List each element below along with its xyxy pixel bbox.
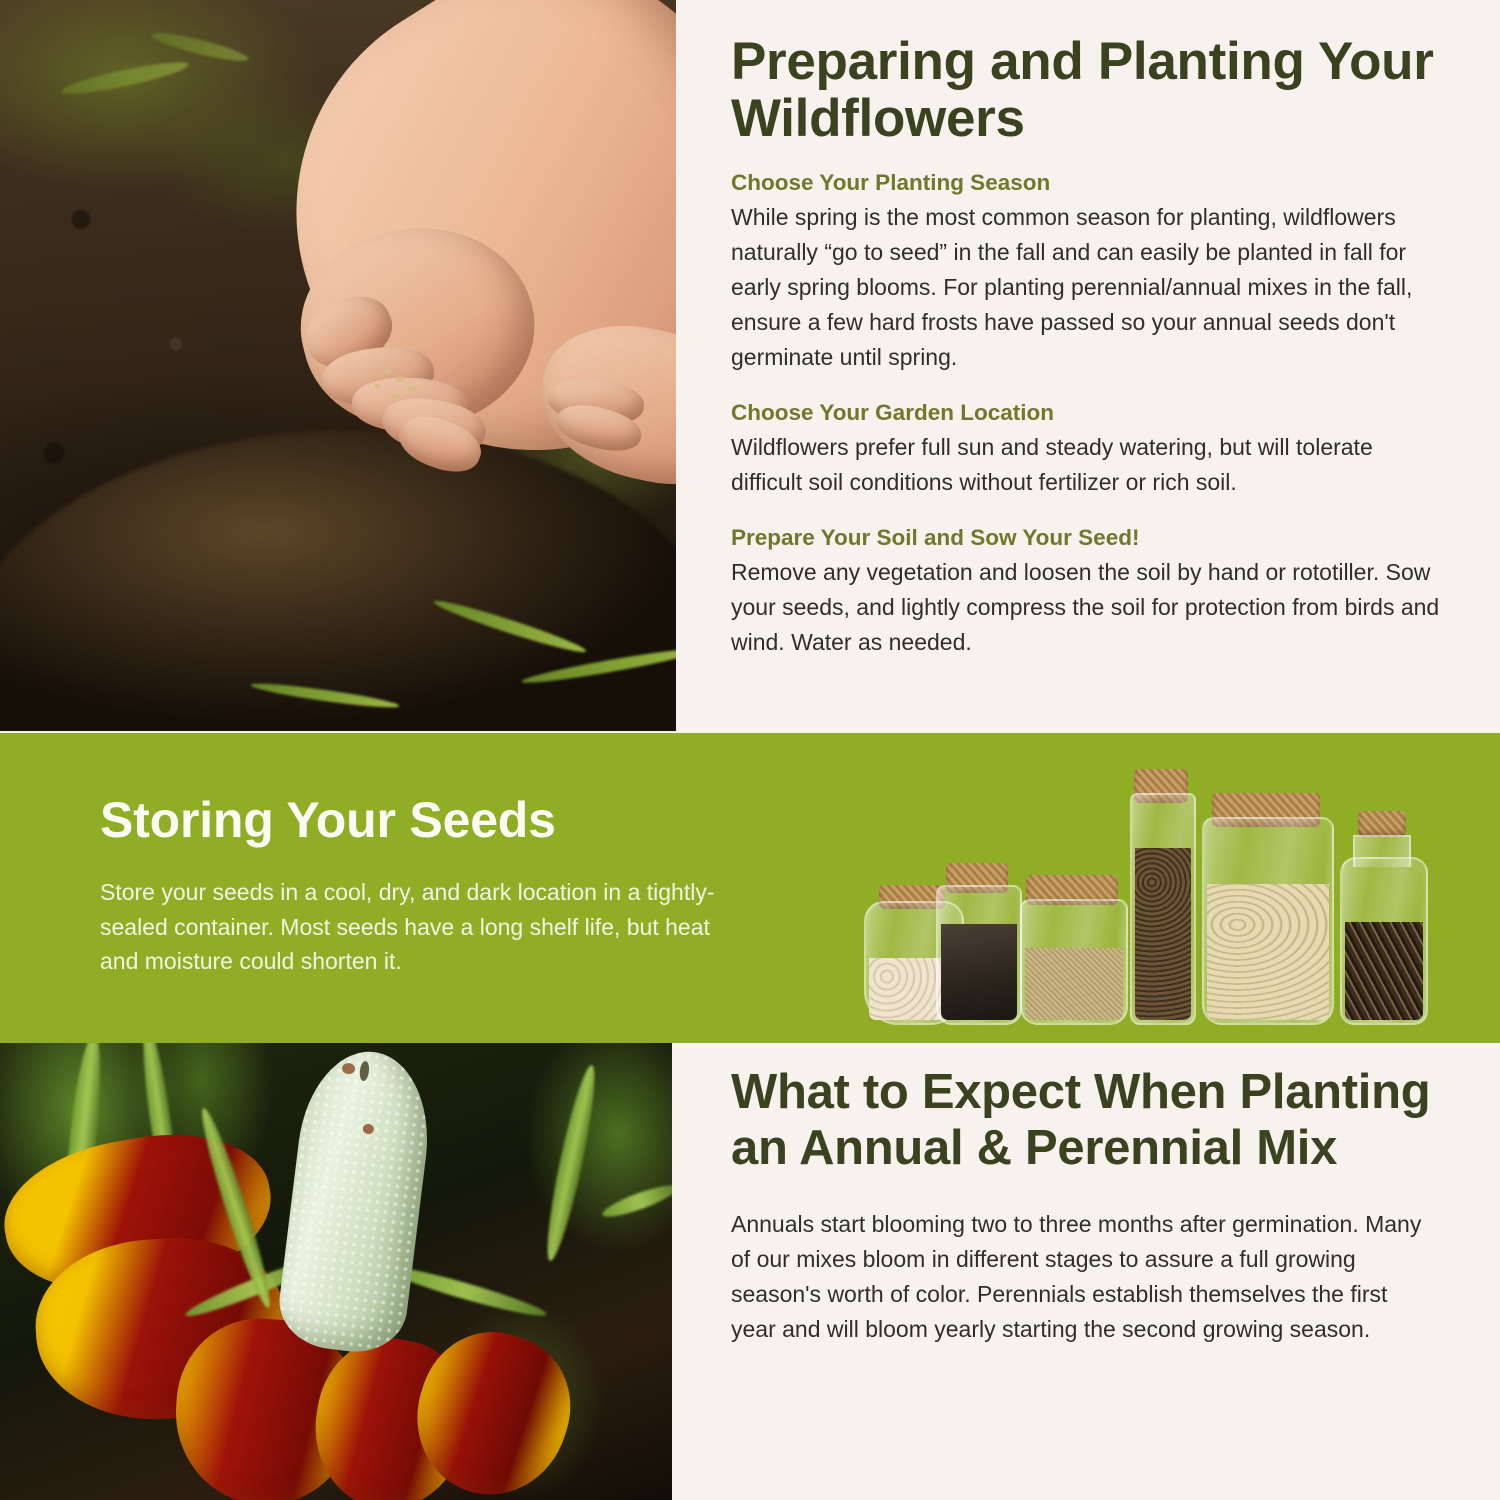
soil-planting-photo — [0, 0, 676, 731]
subheading-garden-location: Choose Your Garden Location — [731, 399, 1443, 426]
jar-contents — [1135, 848, 1191, 1020]
jar-tan-seed — [1020, 875, 1124, 1025]
seed-jars-photo — [858, 751, 1458, 1033]
what-to-expect-section: What to Expect When Planting an Annual &… — [0, 1043, 1500, 1500]
seed — [374, 384, 381, 389]
subheading-planting-season: Choose Your Planting Season — [731, 169, 1443, 196]
jar-glass — [936, 885, 1022, 1025]
expect-paragraph: Annuals start blooming two to three mont… — [731, 1207, 1431, 1347]
jar-tall-tube — [1130, 769, 1192, 1025]
paragraph-planting-season: While spring is the most common season f… — [731, 200, 1443, 375]
expect-text-column: What to Expect When Planting an Annual &… — [672, 1043, 1500, 1500]
expect-title: What to Expect When Planting an Annual &… — [731, 1065, 1431, 1177]
jar-contents — [1207, 884, 1329, 1020]
seed — [392, 394, 400, 399]
jar-dark-seed — [936, 863, 1018, 1025]
paragraph-prepare-soil: Remove any vegetation and loosen the soi… — [731, 555, 1443, 660]
coneflower-photo — [0, 1043, 672, 1500]
jar-sunflower-seed — [1340, 811, 1424, 1025]
storing-title: Storing Your Seeds — [100, 795, 556, 845]
jar-glass — [1202, 817, 1334, 1025]
jar-contents — [1025, 948, 1123, 1020]
jar-glass — [1020, 899, 1128, 1025]
seed — [382, 368, 391, 374]
paragraph-garden-location: Wildflowers prefer full sun and steady w… — [731, 430, 1443, 500]
storing-paragraph: Store your seeds in a cool, dry, and dar… — [100, 875, 740, 979]
cork-lid — [1358, 811, 1406, 837]
intro-text-column: Preparing and Planting Your Wildflowers … — [676, 0, 1500, 733]
intro-title: Preparing and Planting Your Wildflowers — [731, 33, 1443, 147]
jar-contents — [1345, 922, 1423, 1020]
jar-glass — [1340, 857, 1428, 1025]
jar-glass — [1130, 793, 1196, 1025]
storing-seeds-section: Storing Your Seeds Store your seeds in a… — [0, 733, 1500, 1043]
jar-contents — [941, 924, 1017, 1020]
seed — [408, 386, 418, 392]
seed — [396, 376, 404, 382]
jar-pumpkin-seeds — [1202, 793, 1330, 1025]
infographic-page: Preparing and Planting Your Wildflowers … — [0, 0, 1500, 1500]
subheading-prepare-soil: Prepare Your Soil and Sow Your Seed! — [731, 524, 1443, 551]
intro-section: Preparing and Planting Your Wildflowers … — [0, 0, 1500, 733]
